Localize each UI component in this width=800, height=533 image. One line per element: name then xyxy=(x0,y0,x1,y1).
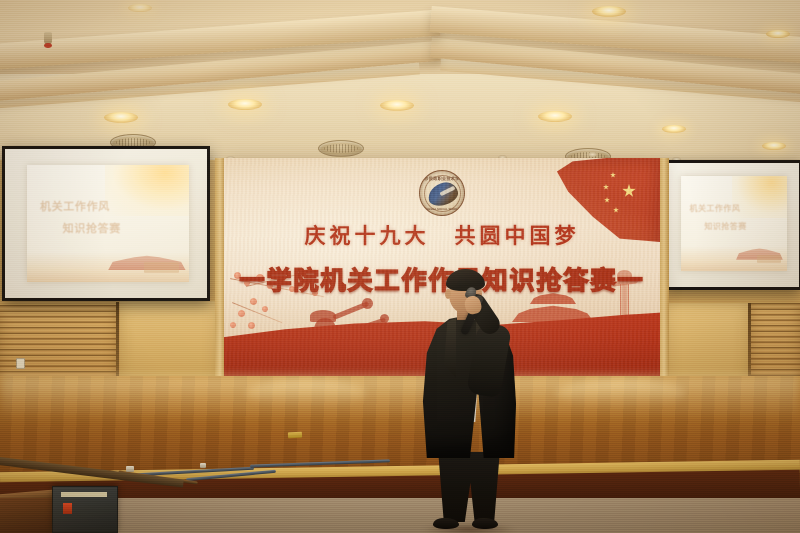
right-screen-surface: 机关工作作风 知识抢答赛 xyxy=(665,163,799,287)
gaffer-tape-mark xyxy=(288,432,302,439)
wall-slat-panel-right xyxy=(751,303,800,383)
sprinkler-icon xyxy=(44,32,52,45)
blossom-petal xyxy=(248,322,255,329)
auditorium-stage-photo: 机关工作作风 知识抢答赛 机关工作作风 知识抢答赛 xyxy=(0,0,800,533)
downlight-icon xyxy=(104,112,138,123)
downlight-icon xyxy=(538,111,572,122)
flag-star-small xyxy=(610,172,616,178)
blossom-petal xyxy=(262,306,268,312)
presenter-shoe-right xyxy=(472,518,498,529)
banner-edge-right xyxy=(659,158,669,376)
mixer-slot xyxy=(61,492,107,497)
ceiling-speaker-icon xyxy=(318,140,364,157)
cable-clip-icon xyxy=(126,466,134,472)
downlight-icon xyxy=(662,125,686,133)
ceiling-fixture-dot xyxy=(588,152,597,157)
right-slide: 机关工作作风 知识抢答赛 xyxy=(681,176,787,271)
left-slide-line1: 机关工作作风 xyxy=(40,198,110,214)
flag-star-large xyxy=(622,184,636,198)
left-projection-screen[interactable]: 机关工作作风 知识抢答赛 xyxy=(2,146,210,301)
presenter xyxy=(410,272,525,530)
wall-slat-panel-left xyxy=(0,305,116,383)
house-floor xyxy=(0,498,800,533)
trumpet-bell xyxy=(362,298,373,309)
floor-reflection xyxy=(556,380,686,406)
right-slide-line1: 机关工作作风 xyxy=(689,203,740,214)
downlight-icon xyxy=(128,4,152,12)
downlight-icon xyxy=(766,30,790,38)
downlight-icon xyxy=(228,99,262,110)
left-screen-surface: 机关工作作风 知识抢答赛 xyxy=(5,149,207,298)
left-slide: 机关工作作风 知识抢答赛 xyxy=(27,165,189,282)
flag-star-small xyxy=(603,184,609,190)
slide-glow xyxy=(105,165,189,216)
presenter-hair xyxy=(446,269,485,291)
wall-outlet-icon xyxy=(16,358,25,369)
cable-clip-icon xyxy=(200,463,206,468)
trumpet-bell xyxy=(380,314,389,323)
wall-seam xyxy=(116,302,119,386)
downlight-icon xyxy=(762,142,786,150)
left-slide-line2: 知识抢答赛 xyxy=(63,220,121,236)
flag-star-small xyxy=(604,197,610,203)
blossom-petal xyxy=(250,298,257,305)
downlight-icon xyxy=(592,6,626,17)
wall-panel-left xyxy=(120,301,230,383)
college-emblem-icon: 长沙民政职业技术学院 CHANGSHA SOCIAL WORK COLLEGE xyxy=(419,170,465,216)
downlight-icon xyxy=(380,100,414,111)
emblem-bottom-text: CHANGSHA SOCIAL WORK COLLEGE xyxy=(420,208,464,211)
right-slide-line2: 知识抢答赛 xyxy=(704,221,746,232)
power-led-icon xyxy=(63,503,72,514)
presenter-trousers xyxy=(434,452,504,522)
ceiling xyxy=(0,0,800,165)
presenter-ear xyxy=(445,289,451,299)
slide-badge xyxy=(757,255,780,264)
emblem-top-text: 长沙民政职业技术学院 xyxy=(420,176,464,182)
presenter-shoe-left xyxy=(433,518,459,529)
banner-headline: 庆祝十九大 共圆中国梦 xyxy=(224,220,660,250)
right-projection-screen[interactable]: 机关工作作风 知识抢答赛 xyxy=(662,160,800,290)
floor-reflection xyxy=(246,380,366,406)
equipment-case-secondary[interactable] xyxy=(0,498,58,533)
flag-star-small xyxy=(613,207,619,213)
mixer-case[interactable] xyxy=(52,486,118,533)
slide-badge xyxy=(144,262,180,273)
blossom-petal xyxy=(238,310,245,317)
blossom-petal xyxy=(230,322,236,328)
